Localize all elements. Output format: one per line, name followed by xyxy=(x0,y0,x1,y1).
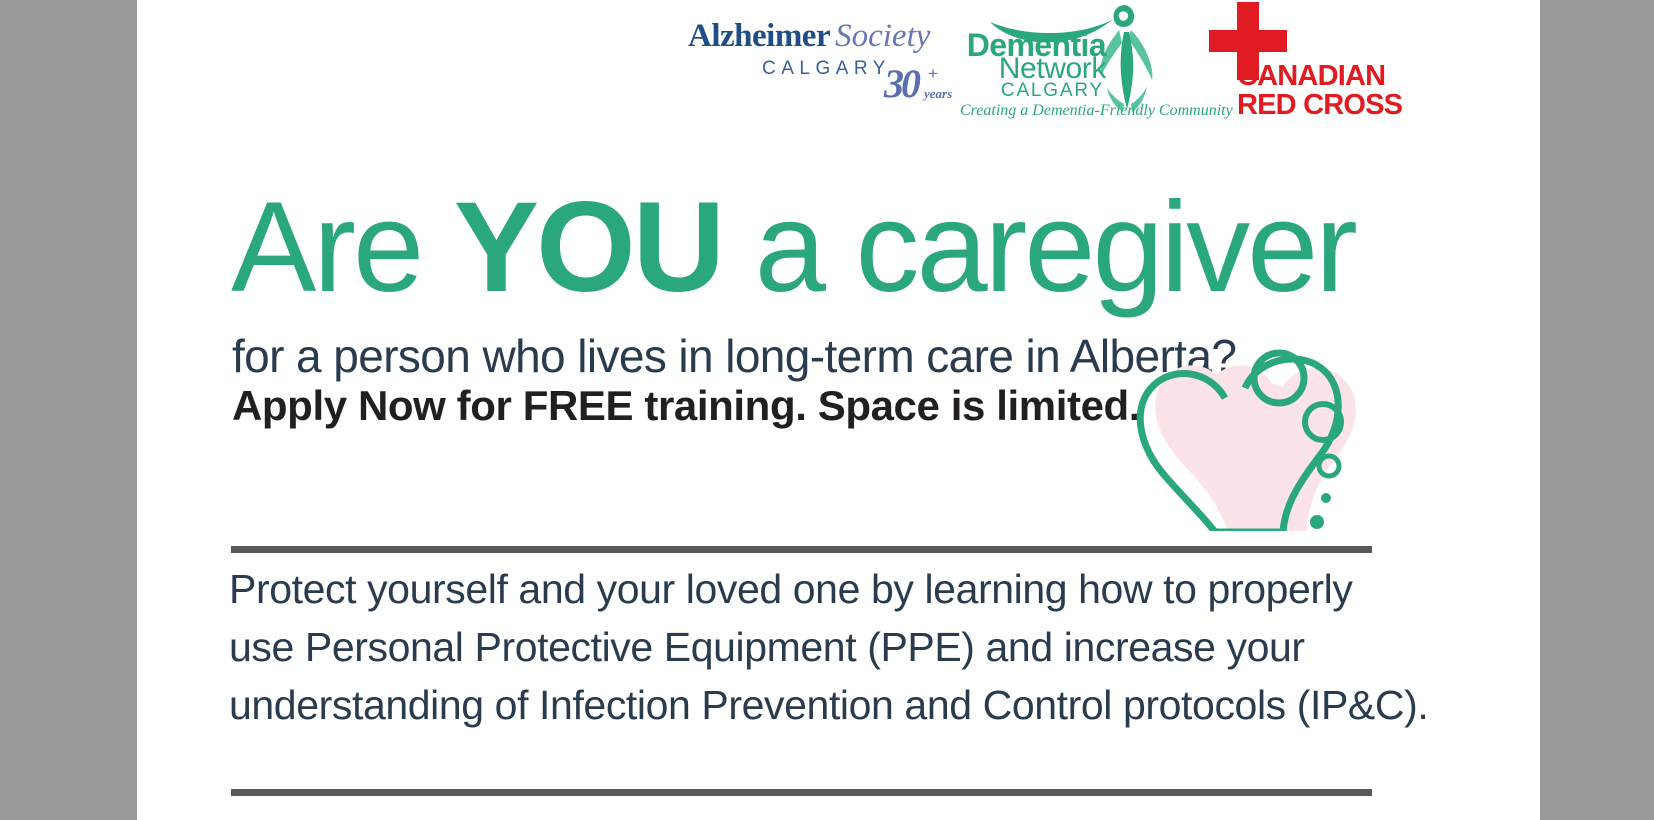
bubble-icon-4 xyxy=(1321,493,1331,503)
poster-page: AlzheimerSociety CALGARY 30 + years xyxy=(137,0,1540,820)
heart-with-bubbles-graphic xyxy=(1077,326,1367,531)
apply-now-callout: Apply Now for FREE training. Space is li… xyxy=(232,383,1140,429)
headline-part-1: Are xyxy=(231,176,454,319)
alzheimer-society-wordmark: AlzheimerSociety xyxy=(688,16,930,55)
logo-strip: AlzheimerSociety CALGARY 30 + years xyxy=(137,0,1540,130)
divider-top xyxy=(231,546,1372,553)
divider-bottom xyxy=(231,789,1372,796)
headline-part-3: a caregiver xyxy=(722,176,1355,319)
bubble-icon-5 xyxy=(1310,515,1324,529)
canadian-red-cross-wordmark: CANADIAN RED CROSS xyxy=(1237,62,1402,120)
page-title: Are YOU a caregiver xyxy=(231,178,1531,318)
anniversary-plus: + xyxy=(928,64,938,84)
canadian-red-cross-logo[interactable]: CANADIAN RED CROSS xyxy=(1172,2,1407,120)
alzheimer-society-city: CALGARY xyxy=(762,58,891,80)
screenshot-viewport: AlzheimerSociety CALGARY 30 + years xyxy=(0,0,1654,820)
body-copy: Protect yourself and your loved one by l… xyxy=(229,560,1409,734)
society-word: Society xyxy=(835,18,930,54)
red-cross-line2: RED CROSS xyxy=(1237,91,1402,120)
alzheimer-word: Alzheimer xyxy=(688,18,830,54)
anniversary-years: years xyxy=(924,86,952,102)
body-line-1: Protect yourself and your loved one by l… xyxy=(229,560,1409,618)
alzheimer-society-calgary-logo[interactable]: AlzheimerSociety CALGARY 30 + years xyxy=(688,16,963,101)
headline-emphasis-you: YOU xyxy=(454,176,722,319)
body-line-2: use Personal Protective Equipment (PPE) … xyxy=(229,618,1409,676)
anniversary-number: 30 xyxy=(884,60,918,107)
dementia-network-line3: CALGARY xyxy=(1001,80,1104,102)
body-line-3: understanding of Infection Prevention an… xyxy=(229,676,1409,734)
red-cross-line1: CANADIAN xyxy=(1237,62,1402,91)
